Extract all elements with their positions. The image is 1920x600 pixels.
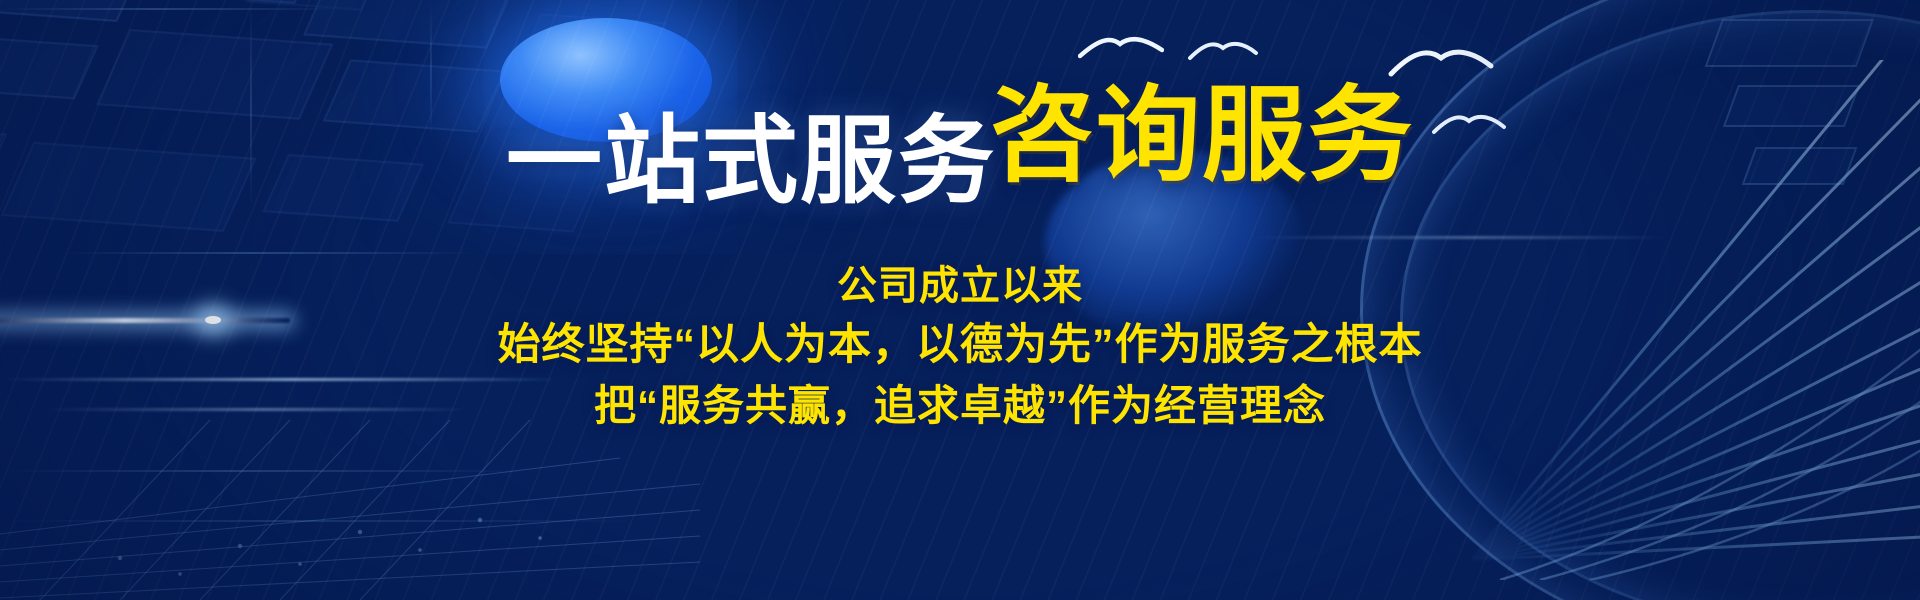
body-line-2: 始终坚持“以人为本，以德为先”作为服务之根本 [0,315,1920,376]
body-line-3: 把“服务共赢，追求卓越”作为经营理念 [0,376,1920,436]
body-text-block: 公司成立以来 始终坚持“以人为本，以德为先”作为服务之根本 把“服务共赢，追求卓… [0,258,1920,435]
body-line-1: 公司成立以来 [0,258,1920,315]
promo-banner: 一站式服务 咨询服务 公司成立以来 始终坚持“以人为本，以德为先”作为服务之根本… [0,0,1920,600]
banner-content: 一站式服务 咨询服务 公司成立以来 始终坚持“以人为本，以德为先”作为服务之根本… [0,0,1920,600]
headline: 一站式服务 咨询服务 [0,84,1920,188]
headline-yellow-text: 咨询服务 [990,84,1414,188]
headline-white-text: 一站式服务 [506,114,996,210]
